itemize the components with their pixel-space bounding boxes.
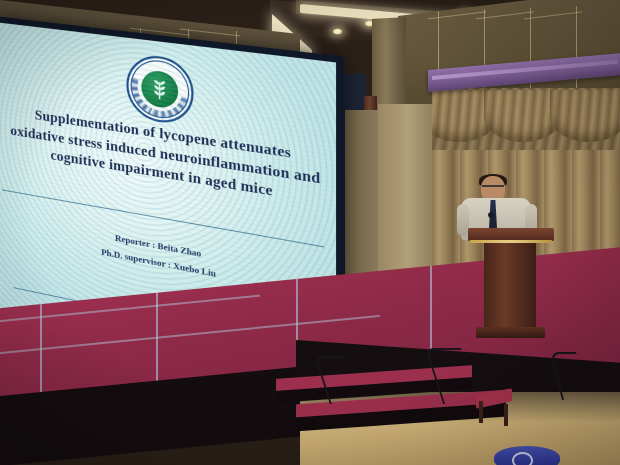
- microphone-icon: [488, 212, 494, 218]
- red-chair: [476, 392, 512, 428]
- podium-base: [476, 327, 545, 338]
- downlight-icon: [332, 28, 343, 35]
- glasses-icon: [482, 185, 504, 192]
- container-logo-icon: [512, 452, 533, 465]
- chair-leg: [479, 401, 483, 423]
- conference-hall-photo: Supplementation of lycopene attenuates o…: [0, 0, 620, 465]
- curtain-swag: [550, 90, 620, 142]
- podium-body: [484, 243, 536, 331]
- chair-leg: [504, 404, 508, 426]
- blue-container: [494, 446, 560, 465]
- university-seal-logo-icon: [126, 52, 193, 127]
- wheat-emblem-icon: [141, 69, 178, 110]
